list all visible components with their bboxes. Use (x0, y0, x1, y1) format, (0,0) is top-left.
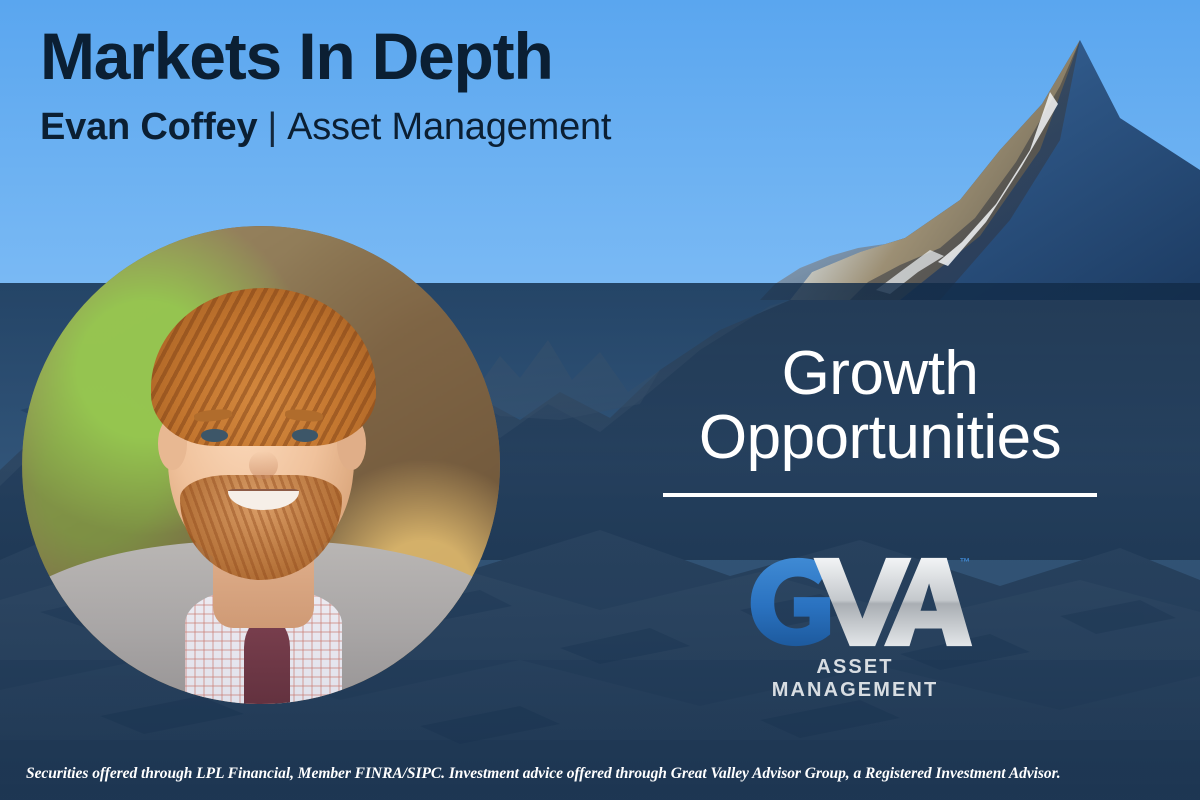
avatar (22, 226, 500, 704)
headline-divider (663, 493, 1097, 497)
logo-trademark-icon: ™ (960, 557, 971, 569)
portrait-eye-left (201, 429, 227, 441)
presentation-slide: Markets In Depth Evan Coffey|Asset Manag… (0, 0, 1200, 800)
headline: Growth Opportunities (600, 342, 1160, 471)
header: Markets In Depth Evan Coffey|Asset Manag… (40, 22, 800, 150)
headline-line-2: Opportunities (600, 406, 1160, 470)
department-label: Asset Management (287, 106, 611, 148)
headline-block: Growth Opportunities (600, 342, 1160, 497)
presenter-line: Evan Coffey|Asset Management (40, 106, 800, 150)
portrait-nose (249, 451, 278, 480)
logo-subtitle: ASSET MANAGEMENT (735, 656, 975, 702)
separator-pipe: | (257, 106, 287, 148)
portrait-eye-right (292, 429, 318, 441)
headline-line-1: Growth (782, 339, 979, 408)
disclaimer-bar: Securities offered through LPL Financial… (0, 748, 1200, 800)
page-title: Markets In Depth (40, 22, 800, 92)
brand-logo: ™ ASSET MANAGEMENT (735, 552, 975, 702)
disclaimer-text: Securities offered through LPL Financial… (0, 765, 1061, 783)
portrait-tie (244, 618, 289, 704)
gva-logomark-icon: ™ (737, 552, 972, 650)
presenter-name: Evan Coffey (40, 106, 257, 148)
